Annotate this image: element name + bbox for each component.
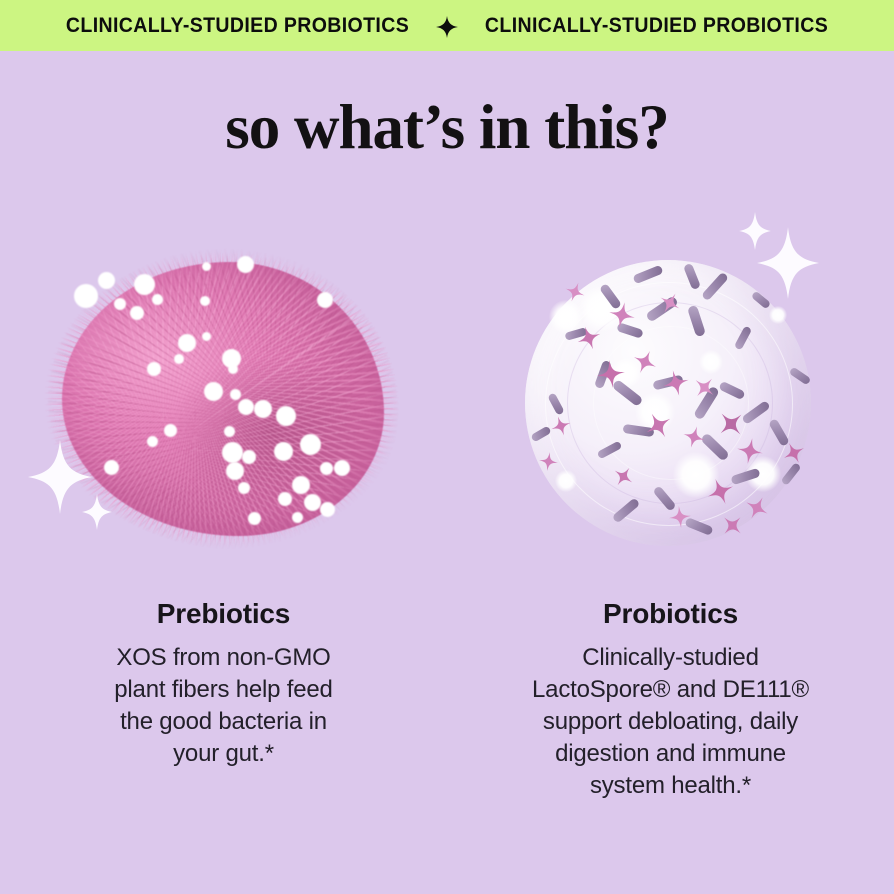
speck — [104, 460, 119, 475]
marquee-text-right: CLINICALLY-STUDIED PROBIOTICS — [485, 15, 828, 36]
description-line: digestion and immune — [555, 740, 786, 767]
product-ingredients-panel: CLINICALLY-STUDIED PROBIOTICS CLINICALLY… — [0, 0, 894, 894]
speck — [152, 294, 163, 305]
speck — [130, 306, 144, 320]
speck — [317, 292, 333, 308]
glow-spot — [555, 470, 577, 492]
speck — [230, 389, 241, 400]
ingredient-columns: Prebiotics XOS from non-GMO plant fibers… — [0, 212, 894, 802]
ingredient-title-prebiotics: Prebiotics — [157, 598, 290, 630]
ingredient-card-probiotics: Probiotics Clinically-studied LactoSpore… — [447, 212, 894, 802]
speck — [204, 382, 223, 401]
speck — [226, 462, 244, 480]
star-particle — [667, 505, 691, 529]
probiotic-sphere-graphic — [493, 230, 843, 575]
speck — [292, 476, 310, 494]
sparkle-star-icon — [436, 16, 458, 38]
speck — [237, 256, 254, 273]
description-line: LactoSpore® and DE111® — [532, 676, 809, 703]
fiber-cluster-graphic — [52, 254, 392, 544]
speck — [164, 424, 177, 437]
speck — [238, 482, 250, 494]
speck — [292, 512, 303, 523]
marquee-banner: CLINICALLY-STUDIED PROBIOTICS CLINICALLY… — [0, 0, 894, 51]
page-title: so what’s in this? — [0, 96, 894, 159]
description-line: system health.* — [590, 772, 751, 799]
prebiotics-illustration — [24, 212, 424, 592]
speck — [114, 298, 126, 310]
speck — [248, 512, 261, 525]
fiber-blob-body — [62, 262, 384, 536]
speck — [202, 262, 211, 271]
marquee-text-left: CLINICALLY-STUDIED PROBIOTICS — [66, 15, 409, 36]
speck — [238, 399, 254, 415]
star-particle — [606, 300, 637, 331]
ingredient-description-probiotics: Clinically-studied LactoSpore® and DE111… — [506, 642, 836, 802]
speck — [178, 334, 196, 352]
description-line: plant fibers help feed — [114, 676, 332, 703]
description-line: your gut.* — [173, 740, 274, 767]
glow-spot — [769, 306, 787, 324]
description-line: XOS from non-GMO — [116, 644, 330, 671]
speck — [202, 332, 211, 341]
speck — [254, 400, 272, 418]
speck — [320, 502, 335, 517]
speck — [274, 442, 293, 461]
speck — [200, 296, 210, 306]
ingredient-card-prebiotics: Prebiotics XOS from non-GMO plant fibers… — [0, 212, 447, 802]
speck — [228, 364, 238, 374]
description-line: support debloating, daily — [543, 708, 798, 735]
speck — [300, 434, 321, 455]
description-line: the good bacteria in — [120, 708, 327, 735]
speck — [147, 362, 161, 376]
speck — [74, 284, 98, 308]
speck — [98, 272, 115, 289]
ingredient-description-prebiotics: XOS from non-GMO plant fibers help feed … — [59, 642, 389, 770]
speck — [320, 462, 333, 475]
speck — [276, 406, 296, 426]
speck — [134, 274, 155, 295]
speck — [334, 460, 350, 476]
speck — [147, 436, 158, 447]
description-line: Clinically-studied — [582, 644, 758, 671]
speck — [304, 494, 321, 511]
speck — [278, 492, 292, 506]
star-particle — [595, 358, 627, 390]
star-particle — [734, 436, 764, 466]
speck — [222, 442, 243, 463]
star-particle — [537, 451, 558, 472]
speck — [224, 426, 235, 437]
probiotics-illustration — [471, 212, 871, 592]
ingredient-title-probiotics: Probiotics — [603, 598, 738, 630]
speck — [242, 450, 256, 464]
speck — [174, 354, 184, 364]
